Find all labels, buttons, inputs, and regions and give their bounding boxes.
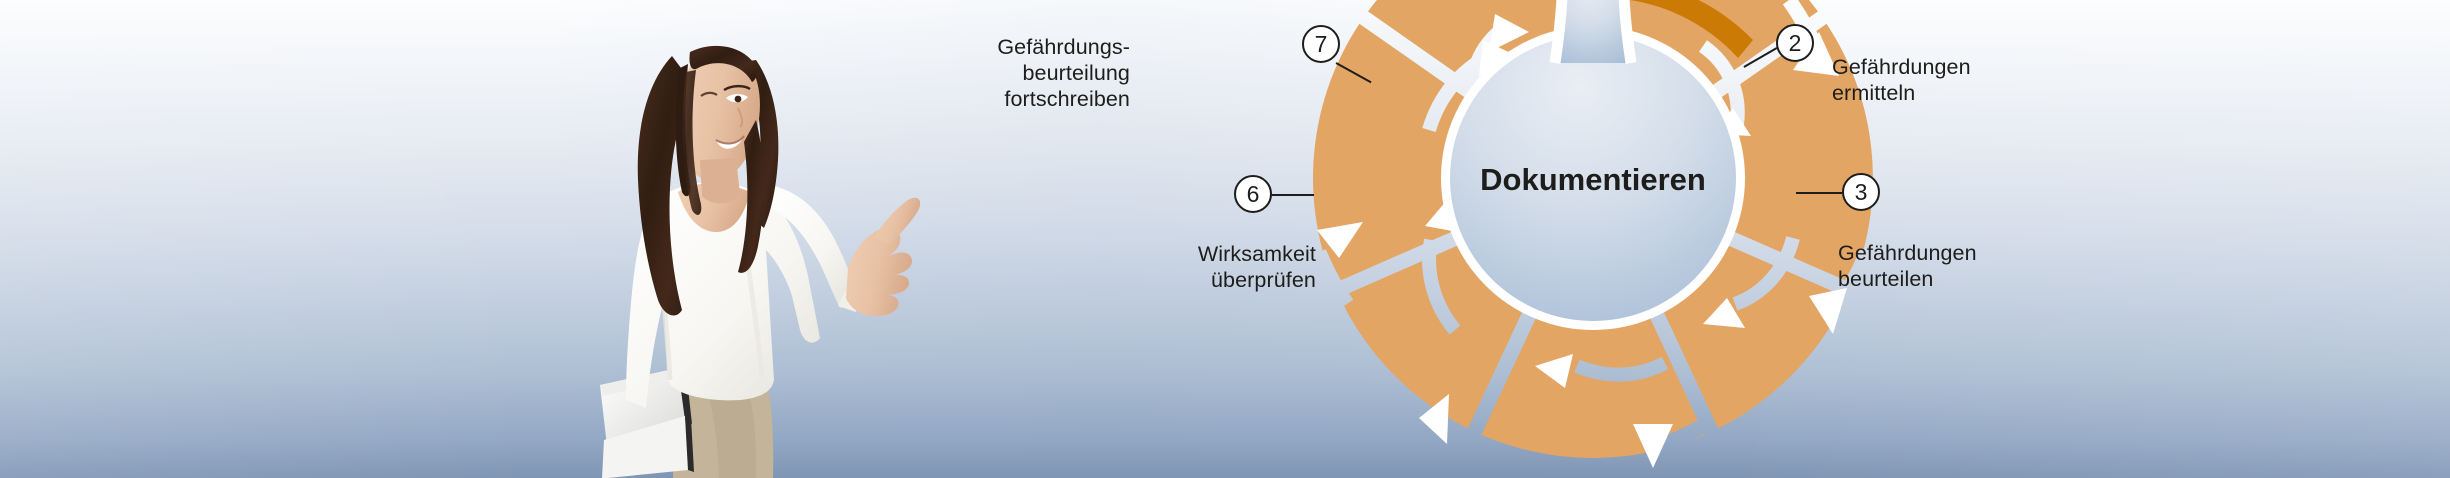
step-badge-6[interactable]: 6 [1234,175,1272,213]
hub-label: Dokumentieren [1480,162,1706,197]
leader-line-3 [1796,192,1842,194]
callout-step-6-label: Wirksamkeit überprüfen [1198,242,1316,292]
step-badge-2[interactable]: 2 [1776,24,1814,62]
step-badge-2-number: 2 [1789,32,1802,55]
leader-line-6 [1272,194,1314,196]
callout-step-2: Gefährdungen ermitteln [1832,28,2152,106]
hero-banner: Dokumentieren Gefährdungs- beurteilung f… [0,0,2450,478]
step-badge-6-number: 6 [1247,183,1260,206]
step-badge-7-number: 7 [1315,33,1328,56]
callout-step-3-label: Gefährdungen beurteilen [1838,241,1977,291]
callout-step-7: Gefährdungs- beurteilung fortschreiben [830,8,1130,112]
step-badge-3-number: 3 [1855,181,1868,204]
callout-step-7-label: Gefährdungs- beurteilung fortschreiben [997,35,1130,111]
callout-step-2-label: Gefährdungen ermitteln [1832,55,1971,105]
callout-step-6: Wirksamkeit überprüfen [1016,215,1316,293]
callout-step-3: Gefährdungen beurteilen [1838,214,2158,292]
step-badge-7[interactable]: 7 [1302,25,1340,63]
step-badge-3[interactable]: 3 [1842,173,1880,211]
